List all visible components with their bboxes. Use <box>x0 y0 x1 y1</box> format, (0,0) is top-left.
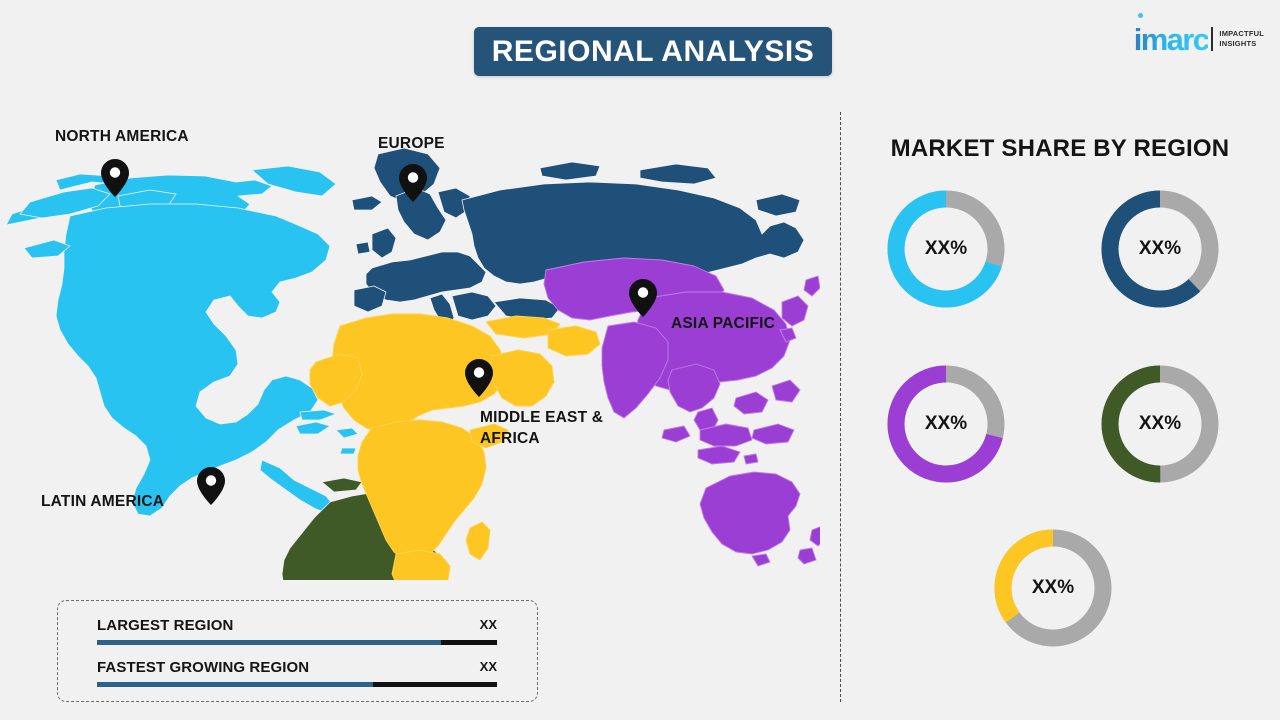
donut-value-europe: XX% <box>1098 187 1222 311</box>
map-label-latin-america: LATIN AMERICA <box>41 491 164 512</box>
legend-value-fastest-growing-region: XX <box>480 659 497 674</box>
map-label-middle-east-africa: MIDDLE EAST & AFRICA <box>480 407 603 449</box>
logo-divider <box>1211 27 1213 51</box>
map-label-europe: EUROPE <box>378 133 445 154</box>
legend-row-largest-region: LARGEST REGION XX <box>97 617 497 659</box>
donut-value-middle-east-africa: XX% <box>991 526 1115 650</box>
donut-chart-middle-east-africa: XX% <box>991 526 1115 650</box>
market-share-title: MARKET SHARE BY REGION <box>840 135 1280 163</box>
imarc-logo: imarc IMPACTFUL INSIGHTS <box>1134 22 1264 56</box>
map-pin-north-america[interactable] <box>100 158 130 198</box>
map-label-asia-pacific: ASIA PACIFIC <box>671 313 775 334</box>
logo-wordmark: imarc <box>1134 24 1209 55</box>
donut-value-latin-america: XX% <box>1098 362 1222 486</box>
donut-value-north-america: XX% <box>884 187 1008 311</box>
map-pin-latin-america[interactable] <box>196 466 226 506</box>
legend-progress-fill-fastest <box>97 682 373 687</box>
donut-chart-latin-america: XX% <box>1098 362 1222 486</box>
legend-progress-track-largest <box>97 640 497 645</box>
legend-label-largest-region: LARGEST REGION <box>97 617 233 634</box>
vertical-dashed-divider <box>840 112 841 702</box>
legend-label-fastest-growing-region: FASTEST GROWING REGION <box>97 659 309 676</box>
logo-dot-icon <box>1138 13 1143 18</box>
map-pin-middle-east-africa[interactable] <box>464 358 494 398</box>
logo-tagline-line2: INSIGHTS <box>1219 39 1256 48</box>
logo-tagline: IMPACTFUL INSIGHTS <box>1219 29 1264 49</box>
page-title-banner: REGIONAL ANALYSIS <box>474 27 832 76</box>
page-title: REGIONAL ANALYSIS <box>492 35 814 69</box>
map-pin-asia-pacific[interactable] <box>628 278 658 318</box>
infographic-slide: REGIONAL ANALYSIS imarc IMPACTFUL INSIGH… <box>0 0 1280 720</box>
legend-progress-track-fastest <box>97 682 497 687</box>
region-summary-box: LARGEST REGION XX FASTEST GROWING REGION… <box>57 600 538 702</box>
donut-chart-europe: XX% <box>1098 187 1222 311</box>
legend-value-largest-region: XX <box>480 617 497 632</box>
legend-progress-fill-largest <box>97 640 441 645</box>
donut-chart-asia-pacific: XX% <box>884 362 1008 486</box>
donut-chart-north-america: XX% <box>884 187 1008 311</box>
map-label-north-america: NORTH AMERICA <box>55 126 189 147</box>
map-pin-europe[interactable] <box>398 163 428 203</box>
legend-row-fastest-growing-region: FASTEST GROWING REGION XX <box>97 659 497 701</box>
donut-value-asia-pacific: XX% <box>884 362 1008 486</box>
logo-tagline-line1: IMPACTFUL <box>1219 29 1264 38</box>
